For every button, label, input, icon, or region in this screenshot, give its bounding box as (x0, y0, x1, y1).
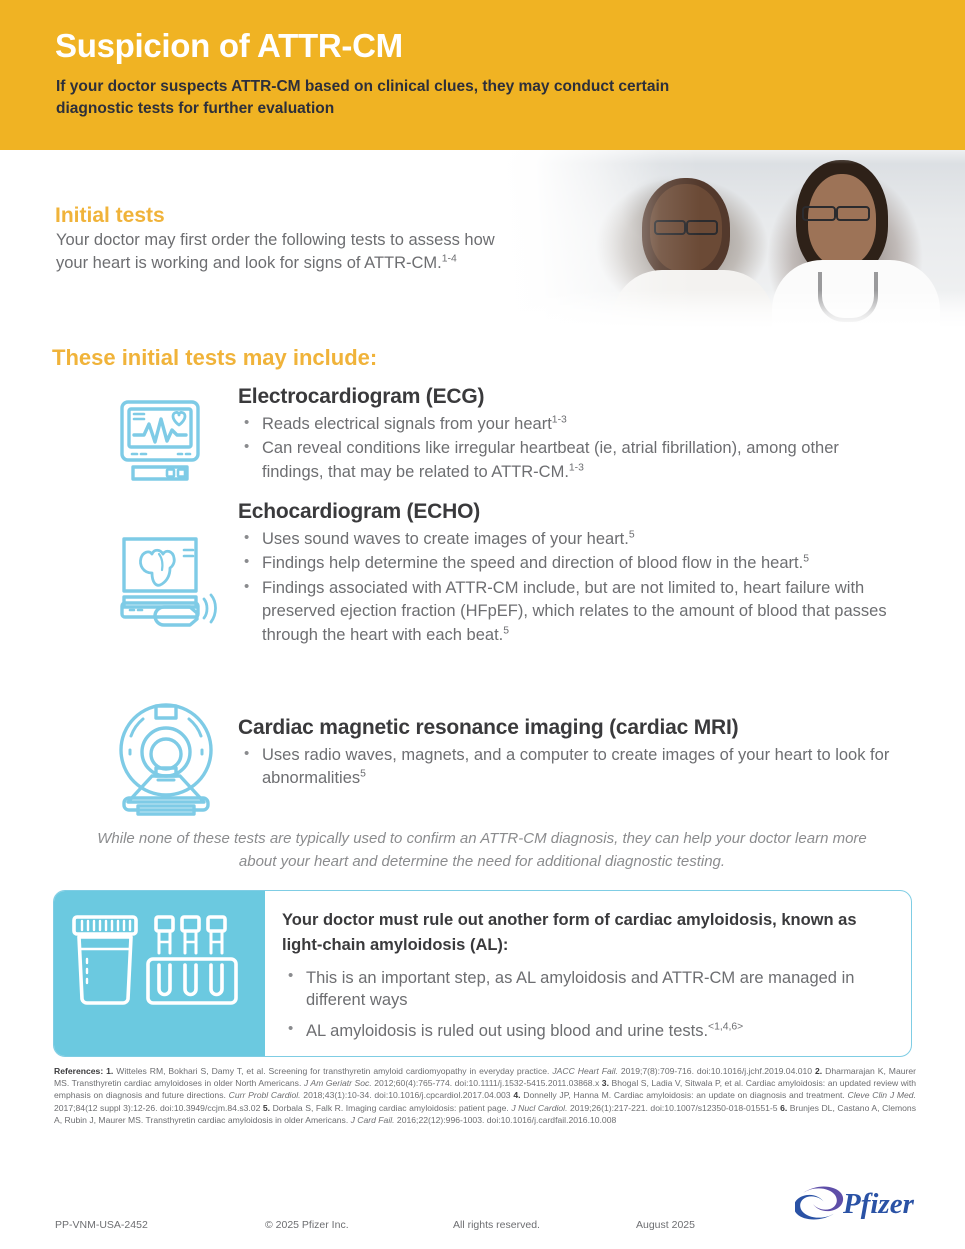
bullet-text: Reads electrical signals from your heart (262, 415, 552, 433)
callout-heading: Your doctor must rule out another form o… (282, 908, 892, 958)
test-tube-rack-icon (148, 917, 236, 1003)
hero-image (500, 150, 965, 328)
summary-note: While none of these tests are typically … (82, 828, 882, 873)
pfizer-logo: Pfizer (795, 1183, 920, 1223)
initial-tests-body: Your doctor may first order the followin… (56, 229, 516, 276)
bullet-citation: 5 (629, 530, 635, 541)
callout-content: Your doctor must rule out another form o… (282, 908, 892, 1051)
initial-tests-heading: Initial tests (55, 204, 165, 228)
test-title-ecg: Electrocardiogram (ECG) (238, 385, 898, 409)
list-item: Uses radio waves, magnets, and a compute… (238, 744, 918, 791)
bullet-citation: 5 (503, 625, 509, 636)
bullet-text: AL amyloidosis is ruled out using blood … (306, 1022, 708, 1040)
bullet-text: Can reveal conditions like irregular hea… (262, 439, 839, 480)
bullet-text: Uses radio waves, magnets, and a compute… (262, 746, 889, 787)
list-item: Can reveal conditions like irregular hea… (238, 437, 898, 484)
bullet-text: Findings help determine the speed and di… (262, 554, 803, 572)
footer-copyright: © 2025 Pfizer Inc. (265, 1219, 349, 1231)
doctor-glasses-left (802, 206, 836, 221)
bullet-citation: 5 (360, 769, 366, 780)
specimen-cup-icon (74, 917, 136, 1003)
references-label: References: (54, 1066, 103, 1076)
al-amyloidosis-callout: Your doctor must rule out another form o… (53, 890, 912, 1057)
footer-rights: All rights reserved. (453, 1219, 540, 1231)
mri-scanner-icon (106, 698, 228, 821)
initial-tests-citation: 1-4 (442, 254, 457, 265)
bullet-citation: 1-3 (569, 462, 584, 473)
test-title-echo: Echocardiogram (ECHO) (238, 500, 898, 524)
test-title-mri: Cardiac magnetic resonance imaging (card… (238, 716, 918, 740)
references: References: 1. Witteles RM, Bokhari S, D… (54, 1065, 916, 1126)
test-bullets-echo: Uses sound waves to create images of you… (238, 528, 898, 647)
list-item: Findings associated with ATTR-CM include… (238, 577, 898, 647)
svg-text:Pfizer: Pfizer (842, 1188, 915, 1220)
list-item: Reads electrical signals from your heart… (238, 413, 898, 436)
list-item: Findings help determine the speed and di… (238, 552, 898, 575)
references-list: 1. Witteles RM, Bokhari S, Damy T, et al… (54, 1066, 916, 1125)
callout-icon-panel (54, 891, 265, 1056)
callout-bullets: This is an important step, as AL amyloid… (282, 967, 892, 1043)
footer-date: August 2025 (636, 1219, 695, 1231)
bullet-citation: 5 (803, 554, 809, 565)
bullet-text: Uses sound waves to create images of you… (262, 530, 629, 548)
initial-tests-body-text: Your doctor may first order the followin… (56, 231, 495, 272)
echocardiogram-probe-icon (112, 533, 222, 638)
test-bullets-mri: Uses radio waves, magnets, and a compute… (238, 744, 918, 791)
bullet-citation: <1,4,6> (708, 1022, 743, 1033)
footer-job-code: PP-VNM-USA-2452 (55, 1219, 148, 1231)
doctor-glasses-right (836, 206, 870, 221)
bullet-text: Findings associated with ATTR-CM include… (262, 579, 887, 644)
header-subtitle: If your doctor suspects ATTR-CM based on… (56, 76, 696, 121)
ecg-monitor-icon (112, 397, 212, 497)
bullet-text: This is an important step, as AL amyloid… (306, 969, 854, 1009)
page-title: Suspicion of ATTR-CM (55, 28, 403, 64)
header-band: Suspicion of ATTR-CM If your doctor susp… (0, 0, 965, 150)
patient-doctor-photo (500, 150, 965, 328)
list-item: This is an important step, as AL amyloid… (282, 967, 892, 1012)
these-tests-heading: These initial tests may include: (52, 345, 377, 371)
list-item: Uses sound waves to create images of you… (238, 528, 898, 551)
test-bullets-ecg: Reads electrical signals from your heart… (238, 413, 898, 484)
hero-bottom-fade (500, 290, 965, 328)
bullet-citation: 1-3 (552, 415, 567, 426)
list-item: AL amyloidosis is ruled out using blood … (282, 1020, 892, 1042)
